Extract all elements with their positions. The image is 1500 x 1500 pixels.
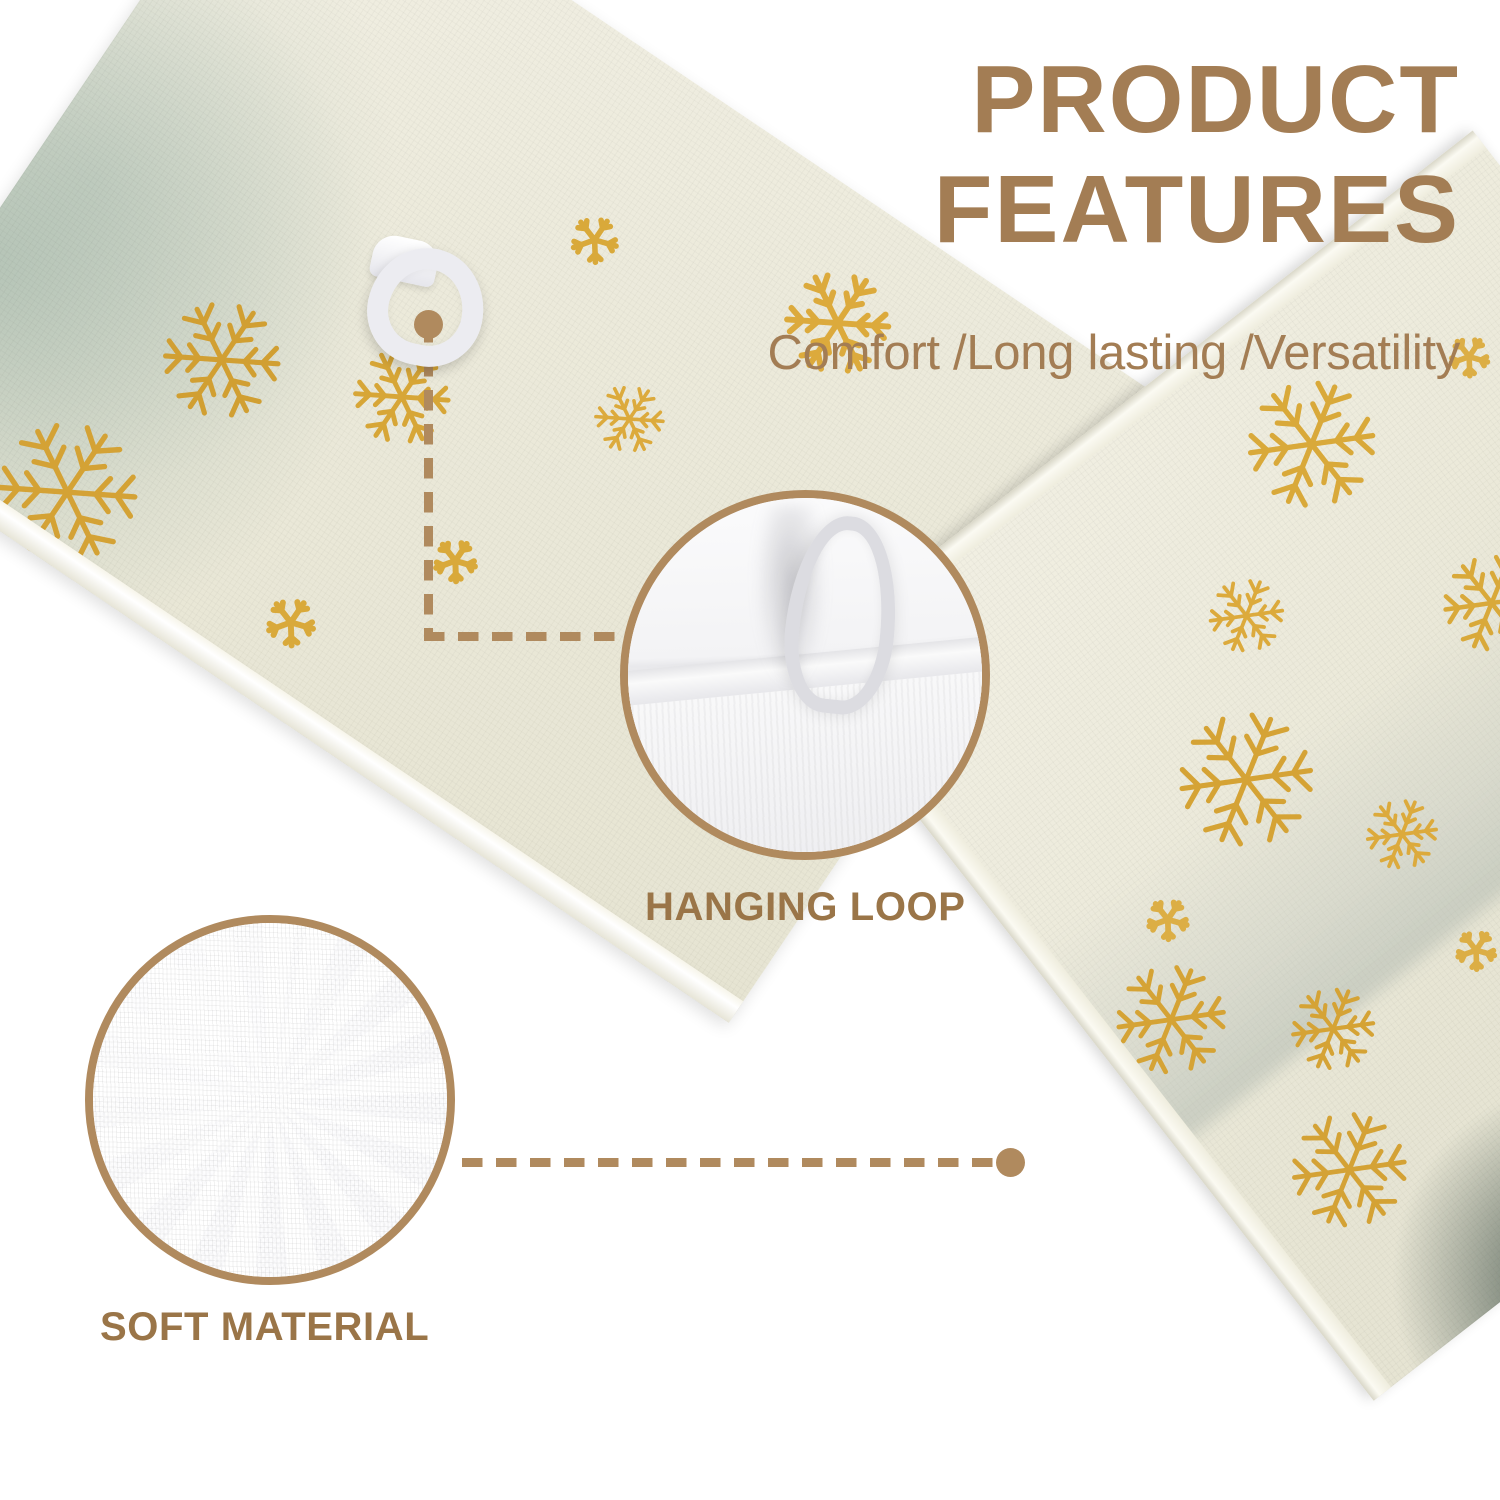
title-line-1: PRODUCT: [700, 45, 1460, 155]
connector-line-vertical-hanging-loop: [424, 322, 433, 640]
callout-soft-material: [85, 915, 455, 1285]
page-subtitle: Comfort /Long lasting /Versatility: [700, 325, 1460, 381]
callout-caption-soft-material: SOFT MATERIAL: [100, 1305, 429, 1350]
connector-line-horizontal-hanging-loop: [424, 632, 644, 641]
hanging-loop: [368, 248, 484, 366]
connector-dot-soft-material: [996, 1148, 1025, 1177]
title-line-2: FEATURES: [700, 155, 1460, 265]
hanging-loop-photo: [628, 498, 982, 852]
callout-caption-hanging-loop: HANGING LOOP: [645, 885, 966, 930]
connector-line-horizontal-soft-material: [462, 1158, 1014, 1167]
product-feature-infographic: PRODUCT FEATURES Comfort /Long lasting /…: [0, 0, 1500, 1500]
callout-hanging-loop: [620, 490, 990, 860]
soft-material-photo: [93, 923, 447, 1277]
page-title: PRODUCT FEATURES: [700, 45, 1460, 266]
